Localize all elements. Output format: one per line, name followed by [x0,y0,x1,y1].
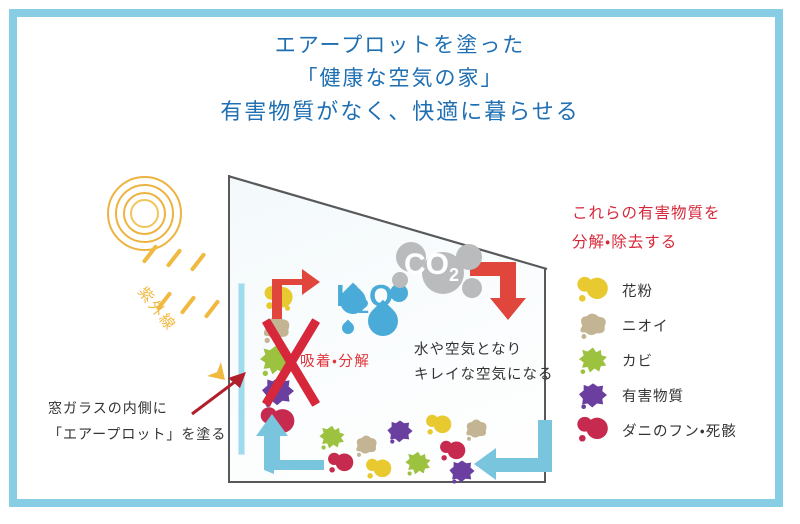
adsorb-decompose-label: 吸着・分解 [300,350,370,371]
legend-heading-line-1: これらの有害物質を [572,200,787,229]
blob-harmful-floor-1 [386,418,414,444]
legend-panel: これらの有害物質を 分解・除去する 花粉 [572,200,787,450]
window-caption-line-1: 窓ガラスの内側に [48,396,238,422]
pollen-blob-icon [572,276,614,304]
mold-blob-icon [572,346,614,374]
coated-window-glass [238,283,245,455]
mite-blob-icon [572,416,614,444]
sun-core [130,199,159,228]
red-arrow-up-right-icon [266,265,322,319]
blob-pollen-floor-2 [364,456,394,482]
legend-label-mold: カビ [622,350,653,371]
blob-odor-floor-1 [352,432,380,458]
uv-label: 紫外線 [133,282,181,335]
legend-item-mite[interactable]: ダニのフン・死骸 [572,415,787,445]
blob-mold-floor-1 [318,424,346,450]
window-caption-line-2: 「エアープロット」を塗る [48,422,238,448]
co2-label: CO2 [404,248,459,286]
result-line-2: キレイな空気になる [414,363,554,388]
title-line-2: 「健康な空気の家」 [0,63,800,96]
clean-air-result-label: 水や空気となり キレイな空気になる [414,338,554,389]
legend-label-odor: ニオイ [622,315,669,336]
blob-mold-floor-2 [404,450,432,476]
infographic-canvas: エアープロットを塗った 「健康な空気の家」 有害物質がなく、快適に暮らせる 紫外… [0,0,800,524]
blob-mite-floor-1 [326,450,356,476]
h2o-label: H2O [336,278,393,319]
co2-group: CO2 [390,238,500,314]
page-title: エアープロットを塗った 「健康な空気の家」 有害物質がなく、快適に暮らせる [0,30,800,129]
legend-item-pollen[interactable]: 花粉 [572,275,787,305]
blue-arrow-up-left-icon [256,412,326,474]
uv-ray-5 [180,295,197,315]
legend-heading: これらの有害物質を 分解・除去する [572,200,787,257]
legend-item-harmful[interactable]: 有害物質 [572,380,787,410]
title-line-1: エアープロットを塗った [0,30,800,63]
legend-item-mold[interactable]: カビ [572,345,787,375]
legend-label-harmful: 有害物質 [622,385,684,406]
co2-bubble-3 [456,244,482,270]
water-drop-4 [340,320,357,337]
uv-ray-6 [204,299,221,319]
blob-harmful-floor-2 [448,458,476,484]
legend-list: 花粉 ニオイ カビ [572,275,787,445]
legend-item-odor[interactable]: ニオイ [572,310,787,340]
legend-label-mite: ダニのフン・死骸 [622,420,737,441]
co2-bubble-5 [462,278,482,298]
legend-label-pollen: 花粉 [622,280,653,301]
window-caption: 窓ガラスの内側に 「エアープロット」を塗る [48,396,238,448]
result-line-1: 水や空気となり [414,338,554,363]
blob-pollen-floor-1 [424,412,454,438]
sun-icon [107,176,183,252]
title-line-3: 有害物質がなく、快適に暮らせる [0,95,800,129]
odor-blob-icon [572,311,614,339]
house-roof-line [228,175,548,271]
harmful-substance-blob-icon [572,381,614,409]
uv-ray-3 [190,252,207,272]
legend-heading-line-2: 分解・除去する [572,229,787,258]
